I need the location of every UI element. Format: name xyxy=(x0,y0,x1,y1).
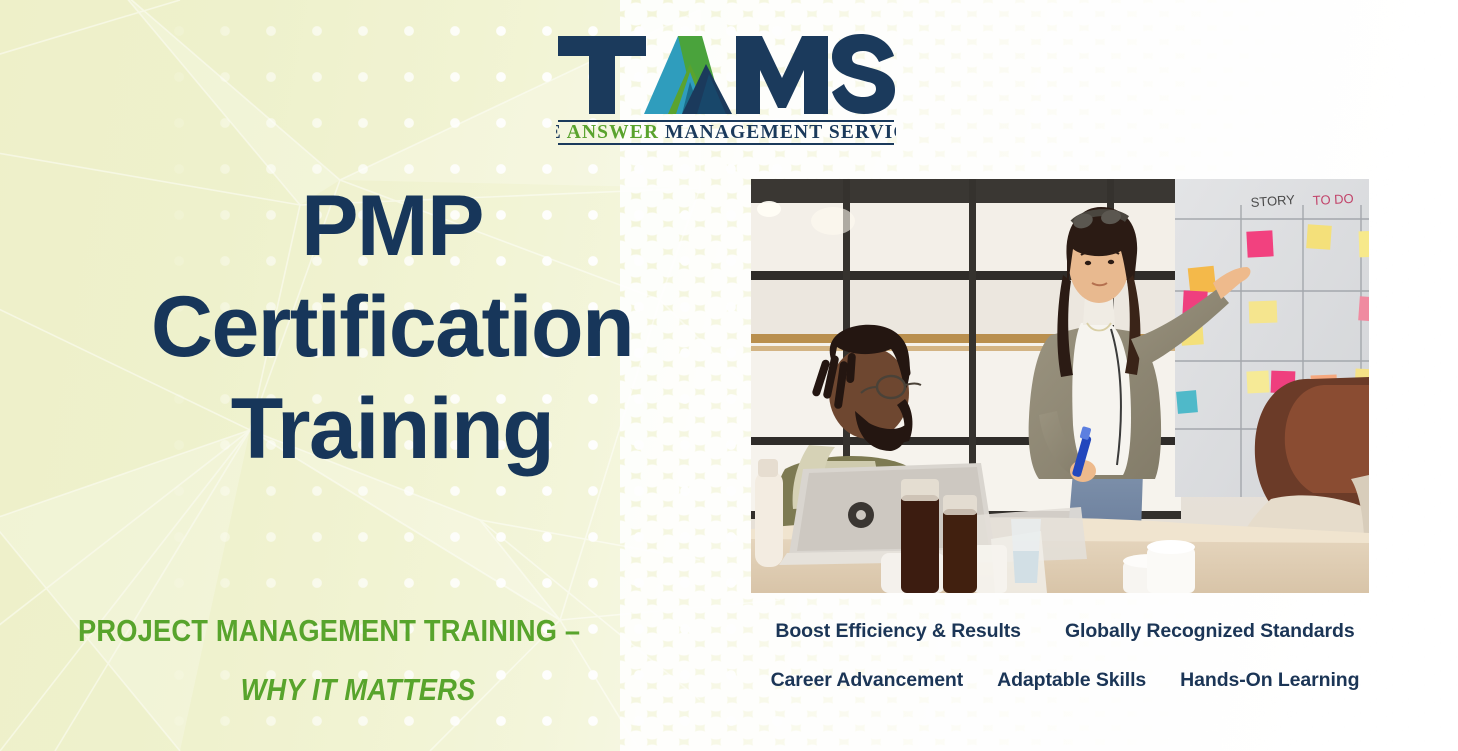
feature-item: Adaptable Skills xyxy=(997,669,1146,692)
tams-logo-svg: THE ANSWER MANAGEMENT SERVICES xyxy=(556,30,896,148)
feature-item: Career Advancement xyxy=(771,669,964,692)
subheading-main: PROJECT MANAGEMENT TRAINING – xyxy=(78,612,624,649)
board-label-todo: TO DO xyxy=(1312,191,1354,208)
logo-letter-m xyxy=(736,36,828,114)
subheading-block: PROJECT MANAGEMENT TRAINING – WHY IT MAT… xyxy=(78,612,698,708)
feature-row-2: Career Advancement Adaptable Skills Hand… xyxy=(730,669,1400,692)
feature-row-1: Boost Efficiency & Results Globally Reco… xyxy=(730,620,1400,643)
tagline-rest: MANAGEMENT SERVICES xyxy=(665,122,896,143)
tagline-the: THE xyxy=(556,122,567,143)
feature-item: Globally Recognized Standards xyxy=(1065,620,1355,643)
feature-list: Boost Efficiency & Results Globally Reco… xyxy=(730,620,1400,692)
headline-line-3: Training xyxy=(72,379,712,480)
feature-item: Hands-On Learning xyxy=(1180,669,1359,692)
subheading-secondary: WHY IT MATTERS xyxy=(112,671,605,708)
logo-mountain-icon xyxy=(644,36,732,114)
feature-item: Boost Efficiency & Results xyxy=(775,620,1021,643)
promo-banner: THE ANSWER MANAGEMENT SERVICES PMP Certi… xyxy=(0,0,1458,751)
tagline-answer: ANSWER xyxy=(567,122,665,143)
board-label-story: STORY xyxy=(1250,192,1296,210)
headline-line-1: PMP xyxy=(72,176,712,277)
hero-photo: STORY TO DO xyxy=(751,179,1369,593)
headline-line-2: Certification xyxy=(72,277,712,378)
logo-divider-bottom xyxy=(558,143,894,145)
hero-photo-illustration: STORY TO DO xyxy=(751,179,1369,593)
logo-letter-t xyxy=(558,36,646,114)
tams-logo: THE ANSWER MANAGEMENT SERVICES xyxy=(556,30,896,148)
logo-tagline: THE ANSWER MANAGEMENT SERVICES xyxy=(556,122,896,143)
page-title: PMP Certification Training xyxy=(72,176,712,480)
logo-letter-s xyxy=(832,34,895,114)
